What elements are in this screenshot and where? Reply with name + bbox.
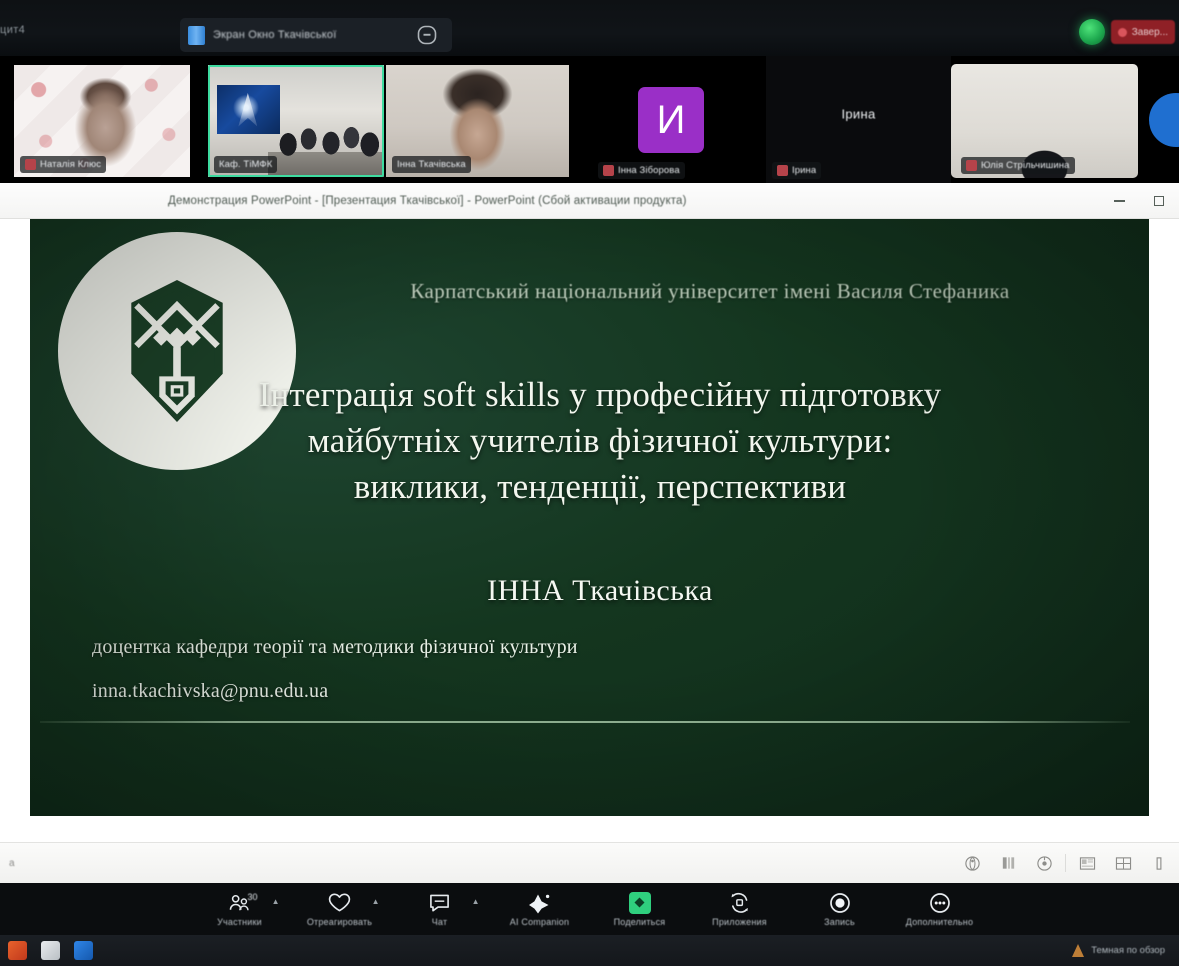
pause-share-button[interactable] <box>410 18 444 52</box>
screen-root: цит4 Экран Окно Ткачівської Завер... <box>0 0 1179 966</box>
powerpoint-taskbar-icon[interactable] <box>8 941 27 960</box>
status-divider <box>1065 854 1066 872</box>
zoom-taskbar-icon[interactable] <box>74 941 93 960</box>
display-settings-icon <box>1036 855 1053 872</box>
powerpoint-title-bar[interactable]: Демонстрация PowerPoint - [Презентация Т… <box>0 183 1179 219</box>
security-shield-icon[interactable] <box>1079 19 1105 45</box>
toolbar-record[interactable]: Запись <box>790 883 890 935</box>
video-tile-3[interactable]: И Інна Зіборова <box>576 56 766 183</box>
pause-share-icon <box>416 24 438 46</box>
participant-name: Каф. ТіМФК <box>219 159 272 170</box>
slide-author: ІННА Ткачівська <box>150 574 1050 608</box>
normal-view-button[interactable] <box>1069 848 1105 878</box>
video-tile-5[interactable]: Юлія Стрільчишина <box>951 56 1145 183</box>
participant-name: Інна Зіборова <box>618 165 680 176</box>
video-tile-1[interactable]: Каф. ТіМФК <box>190 56 384 183</box>
toolbar-more-label: Дополнительно <box>906 917 973 927</box>
participant-name: Юлія Стрільчишина <box>981 160 1070 171</box>
windows-taskbar: Темная по обзор <box>0 935 1179 966</box>
slide-author-position: доцентка кафедри теорії та методики фізи… <box>92 636 578 659</box>
participant-name-badge: Інна Зіборова <box>598 162 685 179</box>
file-explorer-taskbar-icon[interactable] <box>41 941 60 960</box>
video-tile-4[interactable]: Ірина Ірина <box>766 56 951 183</box>
toolbar-apps[interactable]: Приложения <box>690 883 790 935</box>
participant-name-badge: Наталія Клюс <box>20 156 106 173</box>
chat-bubble-icon <box>428 892 451 914</box>
avatar: И <box>638 87 704 153</box>
powerpoint-status-bar: a <box>0 842 1179 883</box>
share-bar-right-controls: Завер... <box>1079 16 1179 48</box>
minimize-icon <box>1114 200 1125 202</box>
toolbar-chat-label: Чат <box>432 917 448 927</box>
participant-display-name: Ірина <box>841 107 875 122</box>
participant-name: Ірина <box>792 165 816 176</box>
display-settings-button[interactable] <box>1026 848 1062 878</box>
notes-button[interactable] <box>990 848 1026 878</box>
status-right-controls <box>954 848 1179 878</box>
video-tile-6[interactable] <box>1145 56 1179 183</box>
slide-sorter-icon <box>1115 856 1132 871</box>
participants-count: 30 <box>248 892 258 902</box>
chevron-up-icon[interactable]: ▲ <box>472 897 480 906</box>
share-screen-icon <box>629 892 651 914</box>
shared-app-icon <box>188 26 205 45</box>
tray-indicator-icon[interactable] <box>1072 944 1084 957</box>
reactions-heart-icon <box>327 892 352 914</box>
share-bar-edge-label: цит4 <box>0 24 25 36</box>
zoom-share-bar: цит4 Экран Окно Ткачівської Завер... <box>0 0 1179 56</box>
apps-icon <box>728 892 751 914</box>
video-tile-2[interactable]: Інна Ткачівська <box>384 56 576 183</box>
mic-muted-icon <box>25 159 36 170</box>
mic-muted-icon <box>966 160 977 171</box>
powerpoint-window: Демонстрация PowerPoint - [Презентация Т… <box>0 183 1179 883</box>
toolbar-ai-companion-label: AI Companion <box>510 917 569 927</box>
accessibility-icon <box>964 855 981 872</box>
slide-title: Інтеграція soft skills у професійну підг… <box>150 372 1050 510</box>
ai-sparkle-icon <box>528 892 552 914</box>
slide-title-line-2: майбутніх учителів фізичної культури: <box>150 418 1050 464</box>
tray-label: Темная по обзор <box>1091 945 1165 956</box>
restore-icon <box>1154 196 1164 206</box>
toolbar-reactions[interactable]: ▲ Отреагировать <box>290 883 390 935</box>
zoom-meeting-toolbar: 30 ▲ Участники ▲ Отреагировать ▲ Чат <box>0 883 1179 935</box>
room-projector-screen <box>217 85 280 134</box>
toolbar-participants-label: Участники <box>217 917 262 927</box>
window-controls <box>1099 183 1179 219</box>
powerpoint-window-title: Демонстрация PowerPoint - [Презентация Т… <box>168 195 687 207</box>
normal-view-icon <box>1079 856 1096 871</box>
slide-author-email[interactable]: inna.tkachivska@pnu.edu.ua <box>92 680 328 703</box>
restore-button[interactable] <box>1139 183 1179 219</box>
slide-divider <box>40 721 1130 723</box>
end-meeting-dot-icon <box>1118 28 1127 37</box>
share-active-indicator <box>629 892 651 914</box>
chevron-up-icon[interactable]: ▲ <box>272 897 280 906</box>
mic-muted-icon <box>777 165 788 176</box>
participant-video-strip: Наталія Клюс Каф. ТіМФК <box>0 56 1179 183</box>
taskbar-tray: Темная по обзор <box>1072 944 1171 957</box>
notes-icon <box>1000 855 1017 871</box>
chevron-up-icon[interactable]: ▲ <box>372 897 380 906</box>
minimize-button[interactable] <box>1099 183 1139 219</box>
toolbar-more[interactable]: Дополнительно <box>890 883 990 935</box>
toolbar-reactions-label: Отреагировать <box>307 917 372 927</box>
participant-name: Наталія Клюс <box>40 159 101 170</box>
participant-name-badge: Каф. ТіМФК <box>214 156 277 173</box>
slide-title-line-1: Інтеграція soft skills у професійну підг… <box>150 372 1050 418</box>
room-attendees <box>278 105 380 172</box>
end-meeting-button[interactable]: Завер... <box>1111 20 1175 44</box>
end-meeting-label: Завер... <box>1132 27 1168 38</box>
reading-view-button[interactable] <box>1141 848 1177 878</box>
record-icon <box>829 892 851 914</box>
toolbar-chat[interactable]: ▲ Чат <box>390 883 490 935</box>
participant-name-badge: Інна Ткачівська <box>392 156 471 173</box>
more-ellipsis-icon <box>929 892 951 914</box>
toolbar-share-screen[interactable]: Поделиться <box>590 883 690 935</box>
reading-view-icon <box>1154 856 1164 871</box>
participant-name-badge: Юлія Стрільчишина <box>961 157 1075 174</box>
shared-window-title: Экран Окно Ткачівської <box>213 29 337 41</box>
toolbar-ai-companion[interactable]: AI Companion <box>490 883 590 935</box>
slide-university-name: Карпатський національний університет іме… <box>330 279 1090 304</box>
toolbar-participants[interactable]: 30 ▲ Участники <box>190 883 290 935</box>
slide-title-line-3: виклики, тенденції, перспективи <box>150 464 1050 510</box>
slide-sorter-button[interactable] <box>1105 848 1141 878</box>
toolbar-share-label: Поделиться <box>614 917 666 927</box>
status-left-text: a <box>9 858 15 869</box>
slide-viewport[interactable]: Карпатський національний університет іме… <box>0 219 1179 839</box>
toolbar-record-label: Запись <box>824 917 855 927</box>
toolbar-apps-label: Приложения <box>712 917 767 927</box>
mic-muted-icon <box>603 165 614 176</box>
accessibility-button[interactable] <box>954 848 990 878</box>
presentation-slide[interactable]: Карпатський національний університет іме… <box>30 219 1149 816</box>
participant-name-badge: Ірина <box>772 162 821 179</box>
video-tile-0[interactable]: Наталія Клюс <box>0 56 190 183</box>
participant-name: Інна Ткачівська <box>397 159 466 170</box>
